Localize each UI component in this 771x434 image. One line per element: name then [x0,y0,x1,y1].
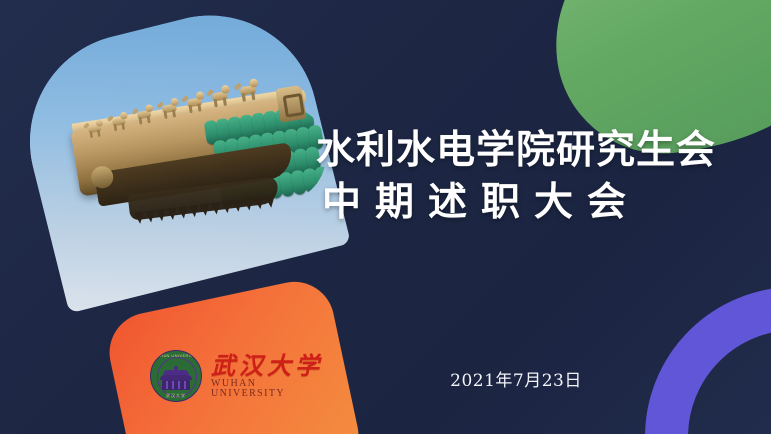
sawtooth [134,211,145,224]
seal-building-column [184,381,186,389]
title-line-1: 水利水电学院研究生会 [316,128,756,174]
sawtooth [145,210,156,223]
sawtooth [199,203,210,216]
seal-building-icon [160,366,192,390]
university-logo: WUHAN UNIVERSITY 武汉大学 武汉大学 WUHAN UNIVERS… [150,348,330,404]
seal-building-column [166,381,168,389]
ridge-beast-icon [134,103,155,124]
slide-date: 2021年7月23日 [316,366,716,391]
purple-ring-decoration [645,287,771,434]
ridge-beast-icon [85,118,104,137]
ridge-beast-icon [184,90,207,113]
title-line-2: 中期述职大会 [316,180,756,226]
sawtooth [156,209,167,222]
seal-bottom-text: 武汉大学 [151,393,201,399]
sawtooth [188,205,199,218]
sawtooth [232,199,243,212]
university-name-block: 武汉大学 WUHAN UNIVERSITY [211,354,330,399]
presentation-cover-slide: WUHAN UNIVERSITY 武汉大学 武汉大学 WUHAN UNIVERS… [0,0,771,434]
sawtooth [243,198,254,211]
photo-clip-mask [7,0,351,313]
university-name-en: WUHAN UNIVERSITY [211,379,330,399]
seal-building-column [172,381,174,389]
university-seal-icon: WUHAN UNIVERSITY 武汉大学 [150,350,202,402]
roof-eave-photo [7,0,351,313]
ridge-beast-icon [109,111,129,131]
ridge-end-ornament [275,85,306,123]
slide-title: 水利水电学院研究生会 中期述职大会 [316,128,756,226]
roof-illustration [37,52,343,252]
ridge-beast-icon [236,77,260,101]
sawtooth [177,206,188,219]
university-name-cn: 武汉大学 [211,354,330,378]
seal-top-text: WUHAN UNIVERSITY [151,353,201,358]
sawtooth [254,197,265,210]
ridge-beast-icon [208,84,231,107]
sawtooth [221,201,232,214]
sawtooth [265,195,276,208]
ridge-beast-icon [159,97,181,119]
sawtooth [167,207,178,220]
seal-building-column [178,381,180,389]
sawtooth [210,202,221,215]
